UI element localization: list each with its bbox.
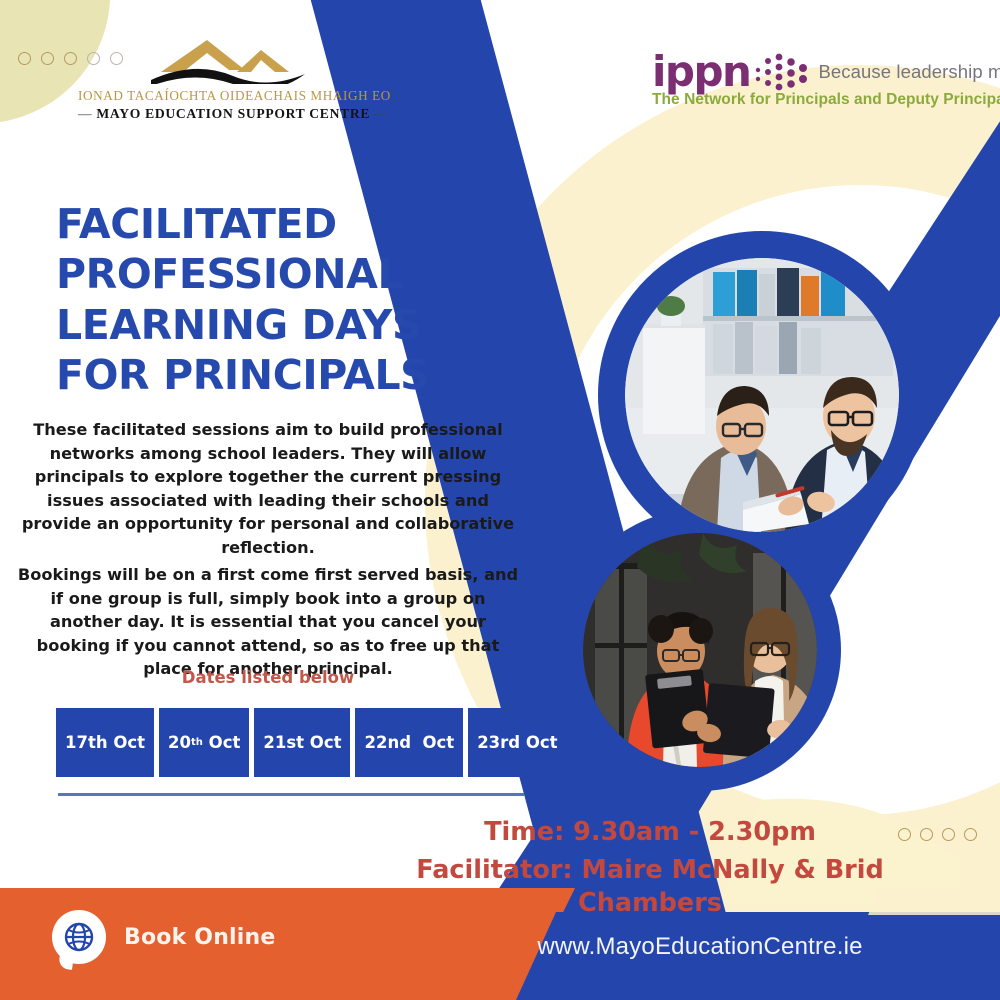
date-box-suffix: th	[191, 737, 203, 748]
mayo-dash-right: —	[374, 106, 388, 121]
intro-paragraph: These facilitated sessions aim to build …	[14, 418, 522, 559]
dates-label: Dates listed below	[14, 668, 522, 687]
book-online-label: Book Online	[124, 925, 276, 950]
date-box-17th-oct[interactable]: 17th Oct	[56, 708, 154, 777]
date-box-day: 20	[168, 733, 191, 752]
mayo-logo-english-name: — MAYO EDUCATION SUPPORT CENTRE —	[78, 106, 378, 122]
date-box-label: 22nd Oct	[364, 733, 454, 752]
ippn-wordmark: ippn	[652, 53, 750, 92]
globe-speech-bubble-icon	[52, 910, 106, 964]
session-details: Time: 9.30am - 2.30pm Facilitator: Maire…	[340, 816, 960, 920]
date-box-label: 17th Oct	[65, 733, 145, 752]
dates-divider	[58, 793, 524, 796]
date-box-23rd-oct[interactable]: 23rd Oct	[468, 708, 566, 777]
ring-dot	[18, 52, 31, 65]
mayo-logo-english-text: MAYO EDUCATION SUPPORT CENTRE	[96, 106, 370, 121]
website-url[interactable]: www.MayoEducationCentre.ie	[420, 933, 980, 961]
dates-row: 17th Oct 20th Oct 21st Oct 22nd Oct 23rd…	[56, 708, 567, 777]
session-time: Time: 9.30am - 2.30pm	[340, 816, 960, 849]
ippn-subtitle: The Network for Principals and Deputy Pr…	[652, 91, 1000, 109]
mayo-logo-irish-name: IONAD TACAÍOCHTA OIDEACHAIS MHAIGH EO	[78, 88, 378, 104]
date-box-22nd-oct[interactable]: 22nd Oct	[355, 708, 463, 777]
ring-dot	[41, 52, 54, 65]
ring-dot	[964, 828, 977, 841]
page-title: FACILITATED PROFESSIONAL LEARNING DAYS F…	[56, 199, 496, 399]
mayo-dash-left: —	[78, 106, 92, 121]
date-box-21st-oct[interactable]: 21st Oct	[254, 708, 350, 777]
date-box-month: Oct	[209, 733, 241, 752]
date-box-20th-oct[interactable]: 20th Oct	[159, 708, 249, 777]
ippn-logo-row: ippn Because leadership matters	[652, 52, 1000, 92]
two-women-with-clipboards-photo	[583, 533, 817, 767]
session-facilitator: Facilitator: Maire McNally & Brid Chambe…	[340, 854, 960, 920]
mountain-swoosh-icon	[133, 36, 323, 84]
two-men-reviewing-document-photo	[625, 258, 899, 532]
date-box-label: 21st Oct	[263, 733, 341, 752]
ippn-logo: ippn Because leadership matters The Netw…	[652, 52, 1000, 109]
book-online-button[interactable]: Book Online	[52, 910, 276, 964]
date-box-label: 23rd Oct	[477, 733, 557, 752]
mayo-education-support-centre-logo: IONAD TACAÍOCHTA OIDEACHAIS MHAIGH EO — …	[78, 36, 378, 122]
ippn-tagline: Because leadership matters	[818, 61, 1000, 83]
booking-paragraph: Bookings will be on a first come first s…	[14, 563, 522, 680]
dot-cluster-icon	[754, 52, 812, 92]
ring-dot	[64, 52, 77, 65]
poster: IONAD TACAÍOCHTA OIDEACHAIS MHAIGH EO — …	[0, 0, 1000, 1000]
